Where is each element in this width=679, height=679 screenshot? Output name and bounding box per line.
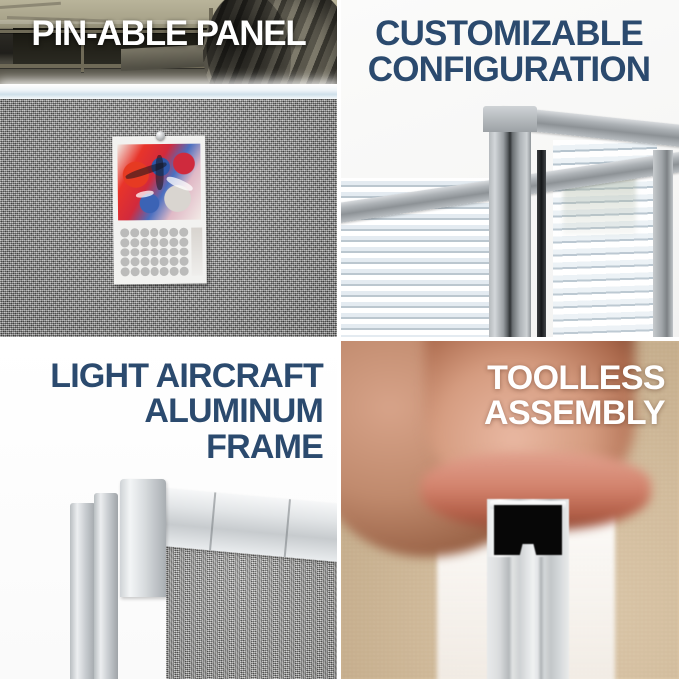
aluminum-corner-post [120,479,166,597]
extrusion-webs [487,557,569,679]
aluminum-extrusion [487,499,569,679]
panel-title-pin-able: PIN-ABLE PANEL [0,16,337,52]
aluminum-corner-post [489,128,531,337]
frame-assembly [70,469,337,679]
push-pin-icon [156,131,165,140]
aluminum-post-right [653,150,673,337]
calendar-date-grid [120,228,188,277]
extrusion-channel [494,505,562,555]
post-cap [483,106,537,132]
fluorescent-light-strip [0,84,337,100]
aluminum-post-outer [70,503,96,679]
calendar-month-label [191,228,203,276]
glass-seal-bar [537,150,546,337]
calendar-artwork [117,144,201,221]
fabric-panel-insert [166,543,337,679]
panel-customizable: CUSTOMIZABLE CONFIGURATION [341,0,679,337]
panel-toolless-assembly: TOOLLESS ASSEMBLY [341,341,679,679]
panel-title-aluminum-frame: LIGHT AIRCRAFT ALUMINUM FRAME [10,359,323,465]
panel-title-customizable: CUSTOMIZABLE CONFIGURATION [353,16,665,89]
panel-pin-able: PIN-ABLE PANEL [0,0,337,337]
panel-title-toolless-assembly: TOOLLESS ASSEMBLY [361,361,665,432]
pinned-calendar [112,136,207,285]
panel-aluminum-frame: LIGHT AIRCRAFT ALUMINUM FRAME [0,341,337,679]
feature-grid: PIN-ABLE PANEL CUSTOMIZABLE CONFIGURATIO… [0,0,679,679]
aluminum-post-inner [94,493,118,679]
